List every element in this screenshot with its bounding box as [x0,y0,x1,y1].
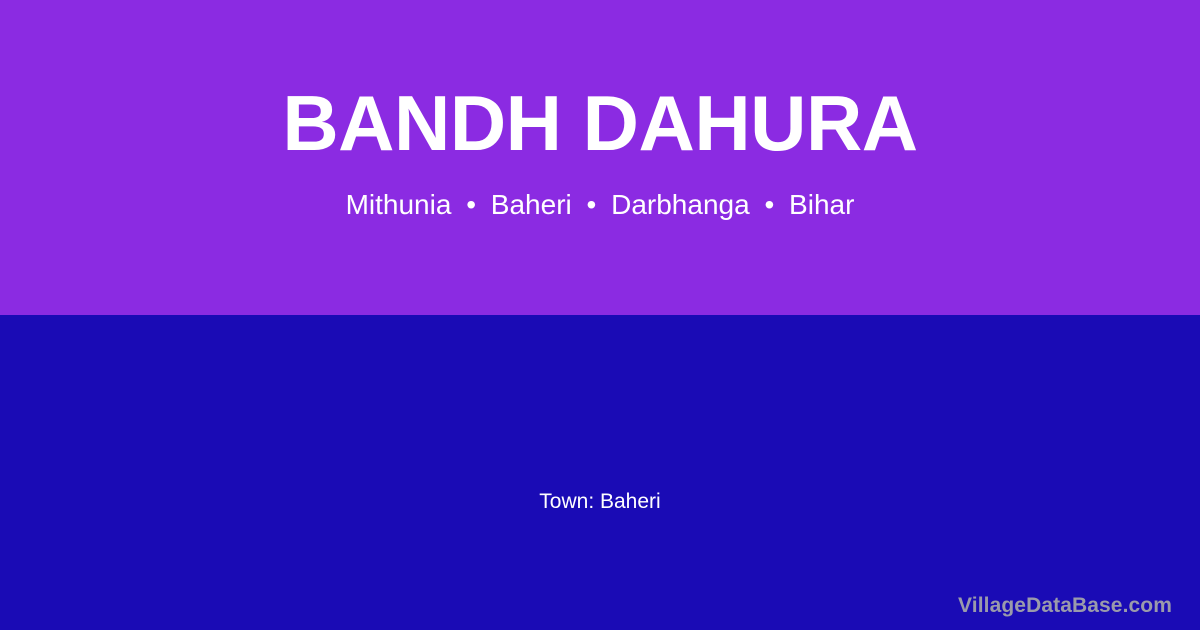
page-title: BANDH DAHURA [282,84,917,162]
breadcrumb-item-panchayat: Mithunia [346,189,452,220]
breadcrumb-separator-icon: • [580,188,604,222]
breadcrumb-item-state: Bihar [789,189,854,220]
hero-banner: BANDH DAHURA Mithunia • Baheri • Darbhan… [0,0,1200,315]
breadcrumb-item-district: Darbhanga [611,189,750,220]
town-detail-line: Town: Baheri [0,488,1200,516]
breadcrumb-separator-icon: • [757,188,781,222]
breadcrumb-item-block: Baheri [491,189,572,220]
village-info-card: BANDH DAHURA Mithunia • Baheri • Darbhan… [0,0,1200,630]
breadcrumb-separator-icon: • [459,188,483,222]
site-watermark: VillageDataBase.com [958,592,1172,620]
location-breadcrumb: Mithunia • Baheri • Darbhanga • Bihar [346,188,855,222]
body-panel: Town: Baheri VillageDataBase.com [0,315,1200,630]
